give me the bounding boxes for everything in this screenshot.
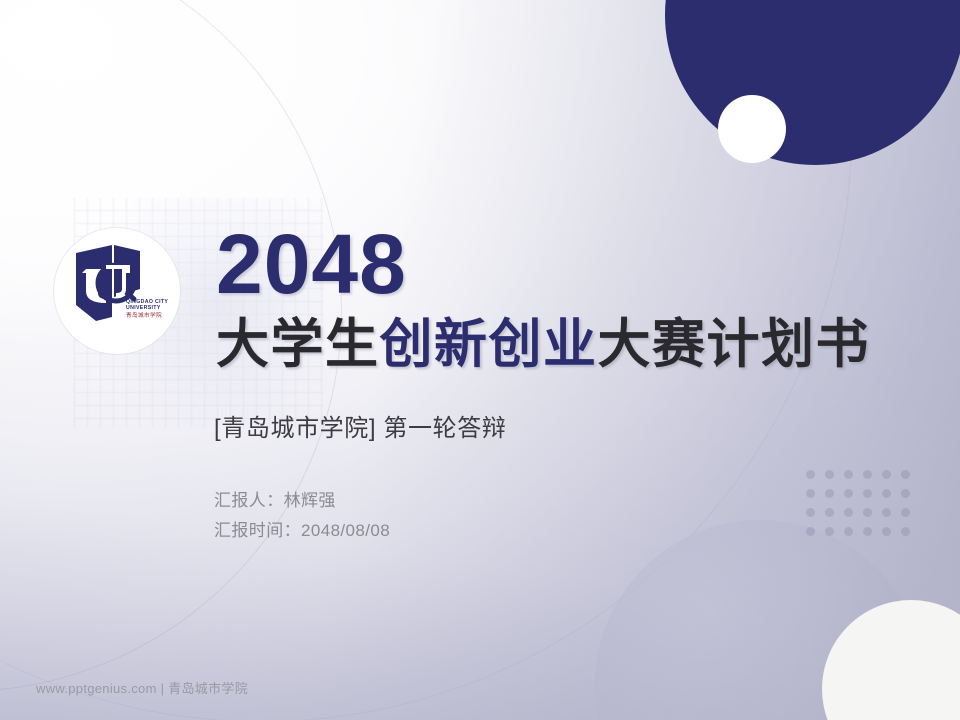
grid-dot: [806, 470, 815, 479]
presenter-line: 汇报人：林辉强: [214, 486, 390, 516]
slide-subtitle: [青岛城市学院] 第一轮答辩: [214, 408, 506, 443]
slide-meta-block: 汇报人：林辉强 汇报时间：2048/08/08: [214, 486, 390, 547]
grid-dot: [844, 489, 853, 498]
grid-dot: [806, 527, 815, 536]
slide-year: 2048: [216, 222, 407, 306]
grid-dot: [882, 489, 891, 498]
logo-wordmark: QINGDAO CITY UNIVERSITY 青岛城市学院: [126, 300, 184, 319]
grid-dot: [863, 508, 872, 517]
grid-dot: [825, 508, 834, 517]
grid-dot: [882, 508, 891, 517]
grid-dot: [825, 527, 834, 536]
grid-dot: [863, 527, 872, 536]
grid-dot: [901, 527, 910, 536]
title-part-2: 创新创业: [380, 315, 598, 374]
grid-dot: [806, 508, 815, 517]
date-line: 汇报时间：2048/08/08: [214, 516, 390, 546]
logo-english-line-2: UNIVERSITY: [126, 306, 184, 312]
grid-dot: [844, 527, 853, 536]
university-logo-badge: QINGDAO CITY UNIVERSITY 青岛城市学院: [54, 228, 180, 354]
grid-dot: [863, 470, 872, 479]
grid-dot: [825, 489, 834, 498]
title-part-1: 大学生: [216, 315, 380, 374]
grid-dot: [901, 489, 910, 498]
logo-inner: QINGDAO CITY UNIVERSITY 青岛城市学院: [66, 240, 168, 342]
decorative-dot-grid: [806, 470, 920, 546]
slide-footer: www.pptgenius.com | 青岛城市学院: [36, 678, 248, 697]
grid-dot: [901, 508, 910, 517]
grid-dot: [882, 527, 891, 536]
grid-dot: [806, 489, 815, 498]
grid-dot: [825, 470, 834, 479]
presentation-slide: QINGDAO CITY UNIVERSITY 青岛城市学院 2048 大学生创…: [0, 0, 960, 720]
grid-dot: [901, 470, 910, 479]
grid-dot: [844, 470, 853, 479]
grid-dot: [882, 470, 891, 479]
grid-dot: [863, 489, 872, 498]
logo-chinese-name: 青岛城市学院: [126, 313, 184, 319]
grid-dot: [844, 508, 853, 517]
slide-main-title: 大学生创新创业大赛计划书: [216, 314, 870, 375]
title-part-3: 大赛计划书: [598, 315, 871, 374]
decorative-circle-white-small: [718, 95, 786, 163]
